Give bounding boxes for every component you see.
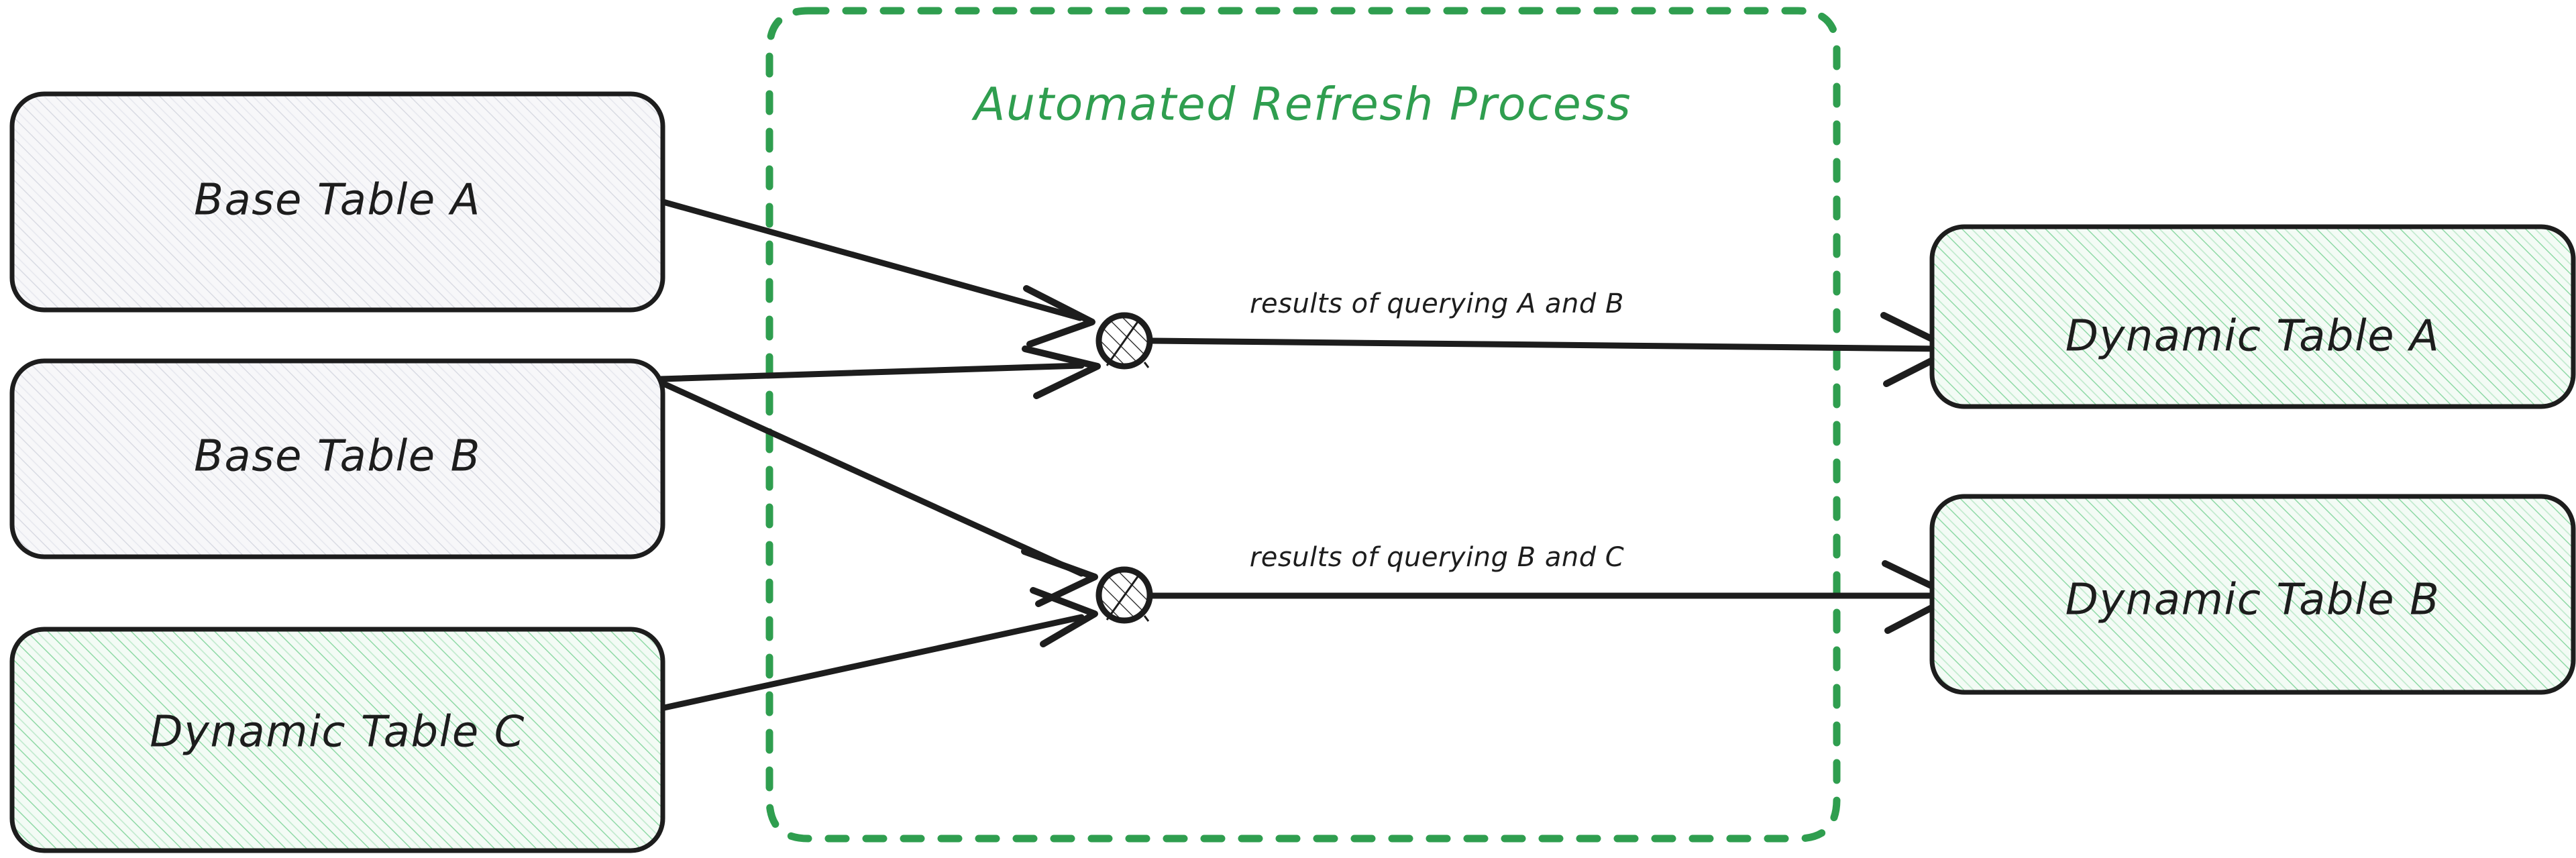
node-dynamic-table-b[interactable]: Dynamic Table B	[1932, 496, 2573, 692]
node-dynamic-table-c[interactable]: Dynamic Table C	[12, 629, 663, 851]
node-base-table-a-label: Base Table A	[194, 176, 481, 225]
edge-base-table-b-to-process-2	[661, 382, 1095, 604]
node-dynamic-table-c-label: Dynamic Table C	[150, 708, 525, 757]
node-base-table-b[interactable]: Base Table B	[12, 361, 663, 557]
edge-base-table-b-to-process-1	[661, 349, 1097, 396]
edge-base-table-a-to-process-1	[661, 201, 1092, 344]
edge-label-results-of-querying-a-and-b: results of querying A and B	[1250, 288, 1624, 319]
node-dynamic-table-a-label: Dynamic Table A	[2065, 312, 2440, 362]
node-base-table-b-label: Base Table B	[194, 432, 481, 482]
cluster-title: Automated Refresh Process	[971, 78, 1631, 131]
node-dynamic-table-b-label: Dynamic Table B	[2065, 576, 2440, 625]
node-process-node-1[interactable]	[1099, 315, 1150, 368]
node-process-node-2[interactable]	[1099, 570, 1150, 621]
cluster-dashed-border	[769, 11, 1837, 839]
edge-label-layer: results of querying A and B results of q…	[1242, 283, 1631, 578]
edge-dynamic-table-c-to-process-2	[664, 590, 1095, 708]
edge-label-results-of-querying-b-and-c: results of querying B and C	[1250, 542, 1624, 573]
cluster-automated-refresh-process: Automated Refresh Process	[769, 11, 1837, 839]
diagram-svg: Automated Refresh Process	[0, 0, 2576, 858]
diagram-canvas: Automated Refresh Process	[0, 0, 2576, 858]
node-base-table-a[interactable]: Base Table A	[12, 94, 663, 310]
node-dynamic-table-a[interactable]: Dynamic Table A	[1932, 227, 2573, 407]
edge-layer	[661, 201, 1953, 708]
